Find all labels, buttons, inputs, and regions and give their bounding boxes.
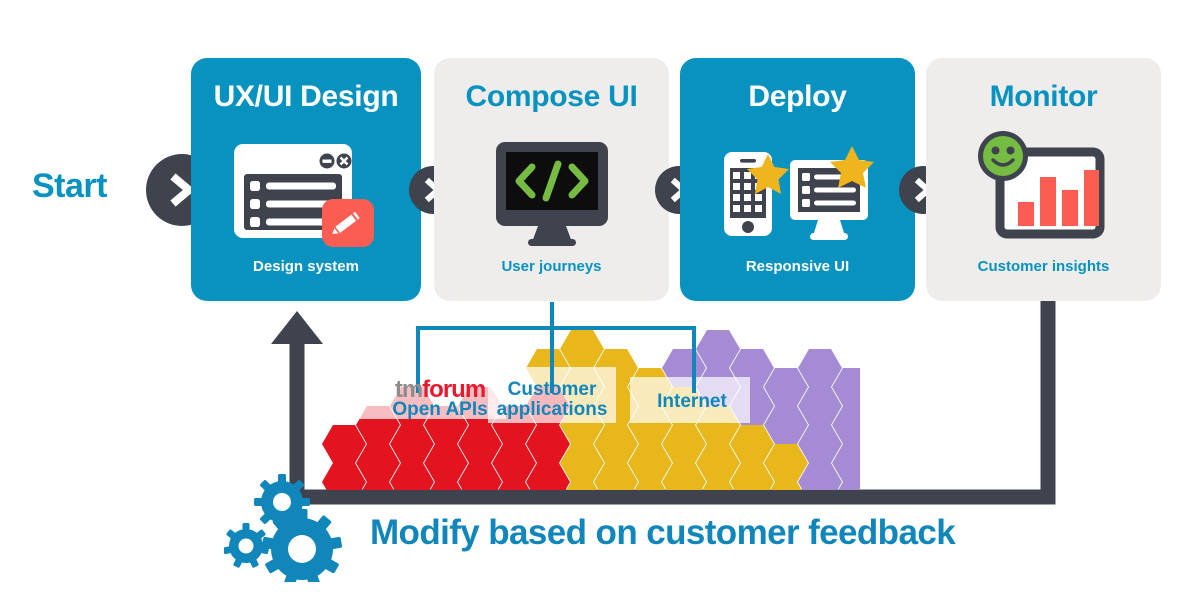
feedback-text: Modify based on customer feedback: [370, 513, 955, 553]
stage-title-monitor: Monitor: [926, 82, 1161, 112]
stage-card-monitor[interactable]: Monitor Customer insights: [926, 58, 1161, 301]
gears-icon: [224, 474, 354, 582]
window-wireframe-with-pencil-icon: [191, 134, 421, 254]
diagram-canvas: tmforum Open APIs Customer applications …: [0, 0, 1200, 600]
hex-label-internet-text: Internet: [640, 392, 744, 412]
stage-title-ux-ui-design: UX/UI Design: [191, 82, 421, 112]
stage-title-compose-ui: Compose UI: [434, 82, 669, 112]
phone-and-desktop-with-stars-icon: [680, 134, 915, 254]
hex-label-customer-line2: applications: [492, 400, 612, 420]
stage-card-ux-ui-design[interactable]: UX/UI Design: [191, 58, 421, 301]
stage-subtitle-compose-ui: User journeys: [434, 258, 669, 275]
hex-label-customer-line1: Customer: [492, 380, 612, 400]
desktop-monitor-code-icon: [434, 134, 669, 254]
smiley-with-bar-chart-icon: [926, 126, 1161, 246]
stage-subtitle-ux-ui-design: Design system: [191, 258, 421, 275]
stage-title-deploy: Deploy: [680, 82, 915, 112]
hex-label-internet: Internet: [640, 392, 744, 412]
stage-card-deploy[interactable]: Deploy: [680, 58, 915, 301]
stage-card-compose-ui[interactable]: Compose UI User journeys: [434, 58, 669, 301]
start-label: Start: [32, 167, 107, 206]
hex-label-customer-applications: Customer applications: [492, 380, 612, 420]
stage-subtitle-deploy: Responsive UI: [680, 258, 915, 275]
stage-subtitle-monitor: Customer insights: [926, 258, 1161, 275]
